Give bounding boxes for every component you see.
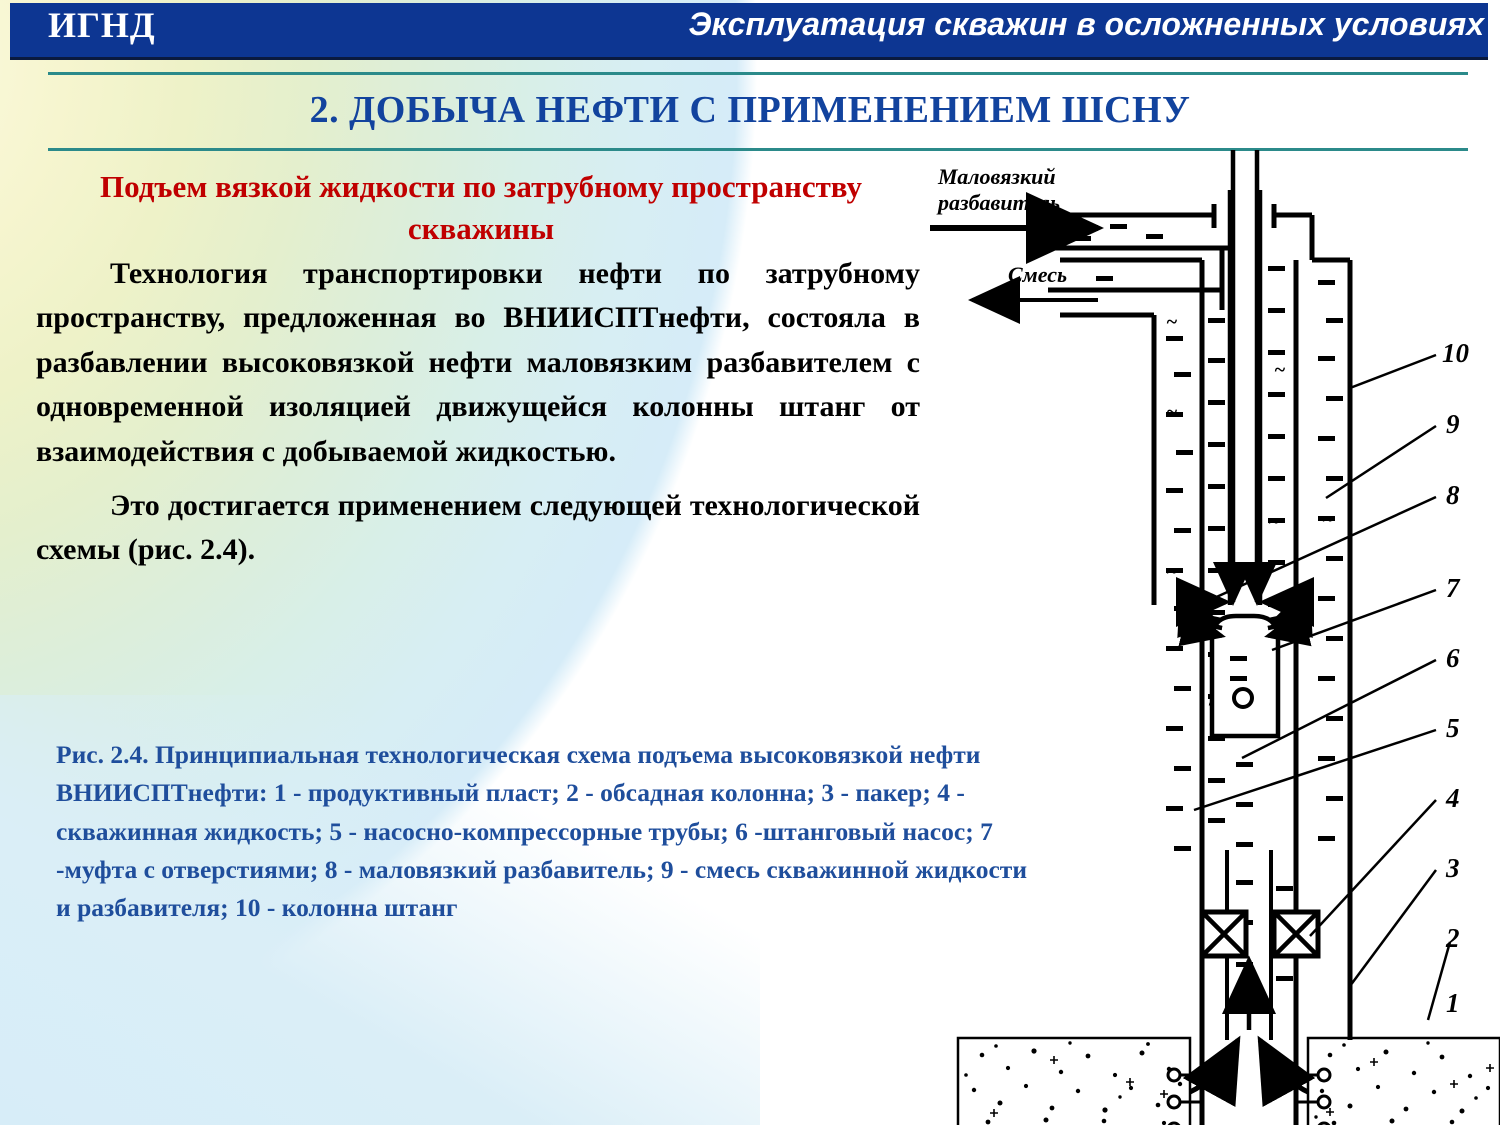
svg-text:~: ~ [1166,561,1177,583]
callout-8: 8 [1446,480,1460,510]
callout-4: 4 [1445,783,1460,813]
svg-text:~: ~ [1322,509,1333,531]
divider-top [48,72,1468,75]
diluent-label-line2: разбавитель [936,190,1060,215]
mixture-label: Смесь [1008,262,1067,287]
diluent-label: Маловязкий разбавитель [936,164,1060,215]
callout-10: 10 [1442,338,1470,368]
svg-text:~: ~ [1268,511,1279,533]
callout-2: 2 [1445,923,1460,953]
mixture-label-text: Смесь [1008,262,1067,287]
rod-string [1233,150,1257,602]
perforations [1168,1069,1330,1125]
body-paragraph-2: Это достигается применением следующей те… [36,484,920,573]
packer-left [1202,912,1246,956]
header-title: Эксплуатация скважин в осложненных услов… [688,6,1484,43]
callout-9: 9 [1446,409,1460,439]
svg-text:~: ~ [1166,401,1177,423]
figure-caption: Рис. 2.4. Принципиальная технологическая… [56,736,1036,927]
callout-numbers: 10 9 8 7 6 5 4 3 2 1 [1442,338,1470,1018]
body-paragraph-1: Технология транспортировки нефти по затр… [36,252,920,474]
callout-5: 5 [1446,713,1460,743]
callout-1: 1 [1446,988,1460,1018]
callout-7: 7 [1446,573,1461,603]
content-subtitle: Подъем вязкой жидкости по затрубному про… [36,166,926,249]
well-schematic-diagram: Маловязкий разбавитель Смесь [930,150,1500,1125]
content-body: Технология транспортировки нефти по затр… [36,252,920,575]
callout-6: 6 [1446,643,1460,673]
page-title: 2. ДОБЫЧА НЕФТИ С ПРИМЕНЕНИЕМ ШСНУ [0,88,1500,132]
diluent-label-line1: Маловязкий [937,164,1056,189]
callout-3: 3 [1445,853,1460,883]
svg-text:~: ~ [1274,359,1285,381]
slide-root: ИГНД Эксплуатация скважин в осложненных … [0,0,1500,1125]
header-logo: ИГНД [48,4,156,46]
svg-text:~: ~ [1166,311,1177,333]
